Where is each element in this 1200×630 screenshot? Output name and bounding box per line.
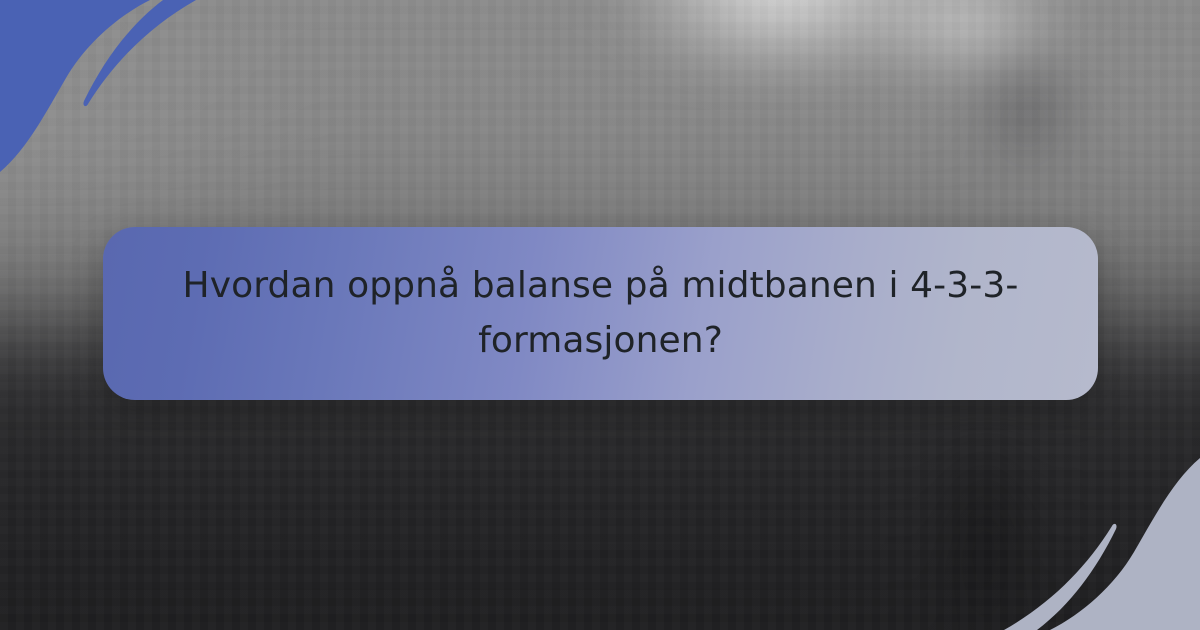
share-card: Hvordan oppnå balanse på midtbanen i 4-3…	[0, 0, 1200, 630]
question-card: Hvordan oppnå balanse på midtbanen i 4-3…	[103, 227, 1098, 400]
question-text: Hvordan oppnå balanse på midtbanen i 4-3…	[103, 259, 1098, 368]
